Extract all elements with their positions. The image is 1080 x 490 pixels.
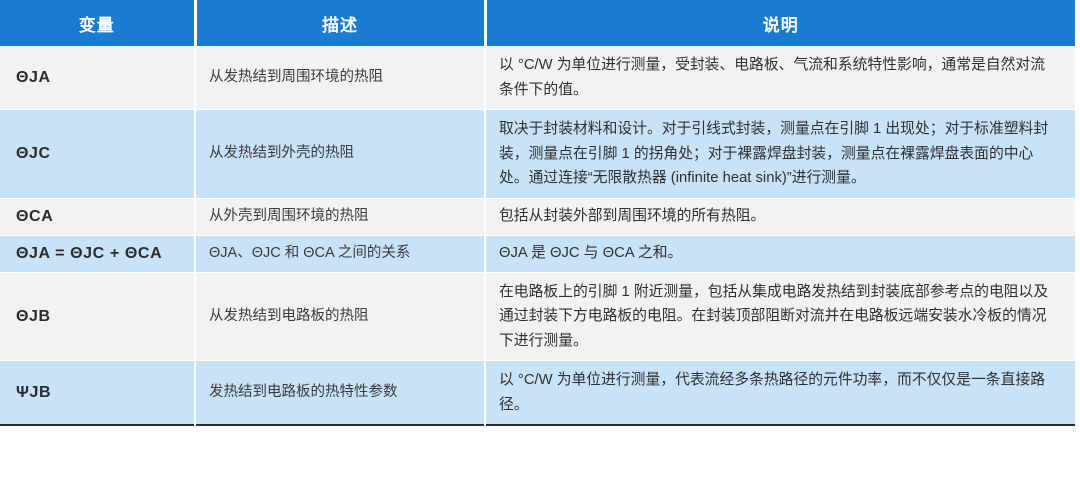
table-header-row: 变量 描述 说明 — [0, 0, 1075, 46]
cell-description: 从发热结到电路板的热阻 — [195, 272, 485, 361]
table-row: ΘJC 从发热结到外壳的热阻 取决于封装材料和设计。对于引线式封装，测量点在引脚… — [0, 110, 1075, 199]
thermal-resistance-table: 变量 描述 说明 ΘJA 从发热结到周围环境的热阻 以 °C/W 为单位进行测量… — [0, 0, 1075, 426]
cell-variable: ΘJA — [0, 46, 195, 110]
cell-variable: ΘJA = ΘJC + ΘCA — [0, 235, 195, 272]
cell-description: 发热结到电路板的热特性参数 — [195, 361, 485, 426]
table-row: ΘJA 从发热结到周围环境的热阻 以 °C/W 为单位进行测量，受封装、电路板、… — [0, 46, 1075, 110]
cell-variable: ΨJB — [0, 361, 195, 426]
column-header-description: 描述 — [195, 0, 485, 46]
table-row: ΘJA = ΘJC + ΘCA ΘJA、ΘJC 和 ΘCA 之间的关系 ΘJA … — [0, 235, 1075, 272]
cell-note: 在电路板上的引脚 1 附近测量，包括从集成电路发热结到封装底部参考点的电阻以及通… — [485, 272, 1075, 361]
thermal-table-container: 变量 描述 说明 ΘJA 从发热结到周围环境的热阻 以 °C/W 为单位进行测量… — [0, 0, 1080, 490]
column-header-note: 说明 — [485, 0, 1075, 46]
cell-note: ΘJA 是 ΘJC 与 ΘCA 之和。 — [485, 235, 1075, 272]
cell-note: 以 °C/W 为单位进行测量，代表流经多条热路径的元件功率，而不仅仅是一条直接路… — [485, 361, 1075, 426]
table-body: ΘJA 从发热结到周围环境的热阻 以 °C/W 为单位进行测量，受封装、电路板、… — [0, 46, 1075, 425]
table-row: ΨJB 发热结到电路板的热特性参数 以 °C/W 为单位进行测量，代表流经多条热… — [0, 361, 1075, 426]
cell-description: 从外壳到周围环境的热阻 — [195, 198, 485, 235]
cell-note: 以 °C/W 为单位进行测量，受封装、电路板、气流和系统特性影响，通常是自然对流… — [485, 46, 1075, 110]
cell-variable: ΘJB — [0, 272, 195, 361]
table-header: 变量 描述 说明 — [0, 0, 1075, 46]
cell-variable: ΘJC — [0, 110, 195, 199]
cell-note: 包括从封装外部到周围环境的所有热阻。 — [485, 198, 1075, 235]
table-row: ΘJB 从发热结到电路板的热阻 在电路板上的引脚 1 附近测量，包括从集成电路发… — [0, 272, 1075, 361]
cell-variable: ΘCA — [0, 198, 195, 235]
cell-description: ΘJA、ΘJC 和 ΘCA 之间的关系 — [195, 235, 485, 272]
cell-note: 取决于封装材料和设计。对于引线式封装，测量点在引脚 1 出现处；对于标准塑料封装… — [485, 110, 1075, 199]
column-header-variable: 变量 — [0, 0, 195, 46]
cell-description: 从发热结到外壳的热阻 — [195, 110, 485, 199]
cell-description: 从发热结到周围环境的热阻 — [195, 46, 485, 110]
table-row: ΘCA 从外壳到周围环境的热阻 包括从封装外部到周围环境的所有热阻。 — [0, 198, 1075, 235]
